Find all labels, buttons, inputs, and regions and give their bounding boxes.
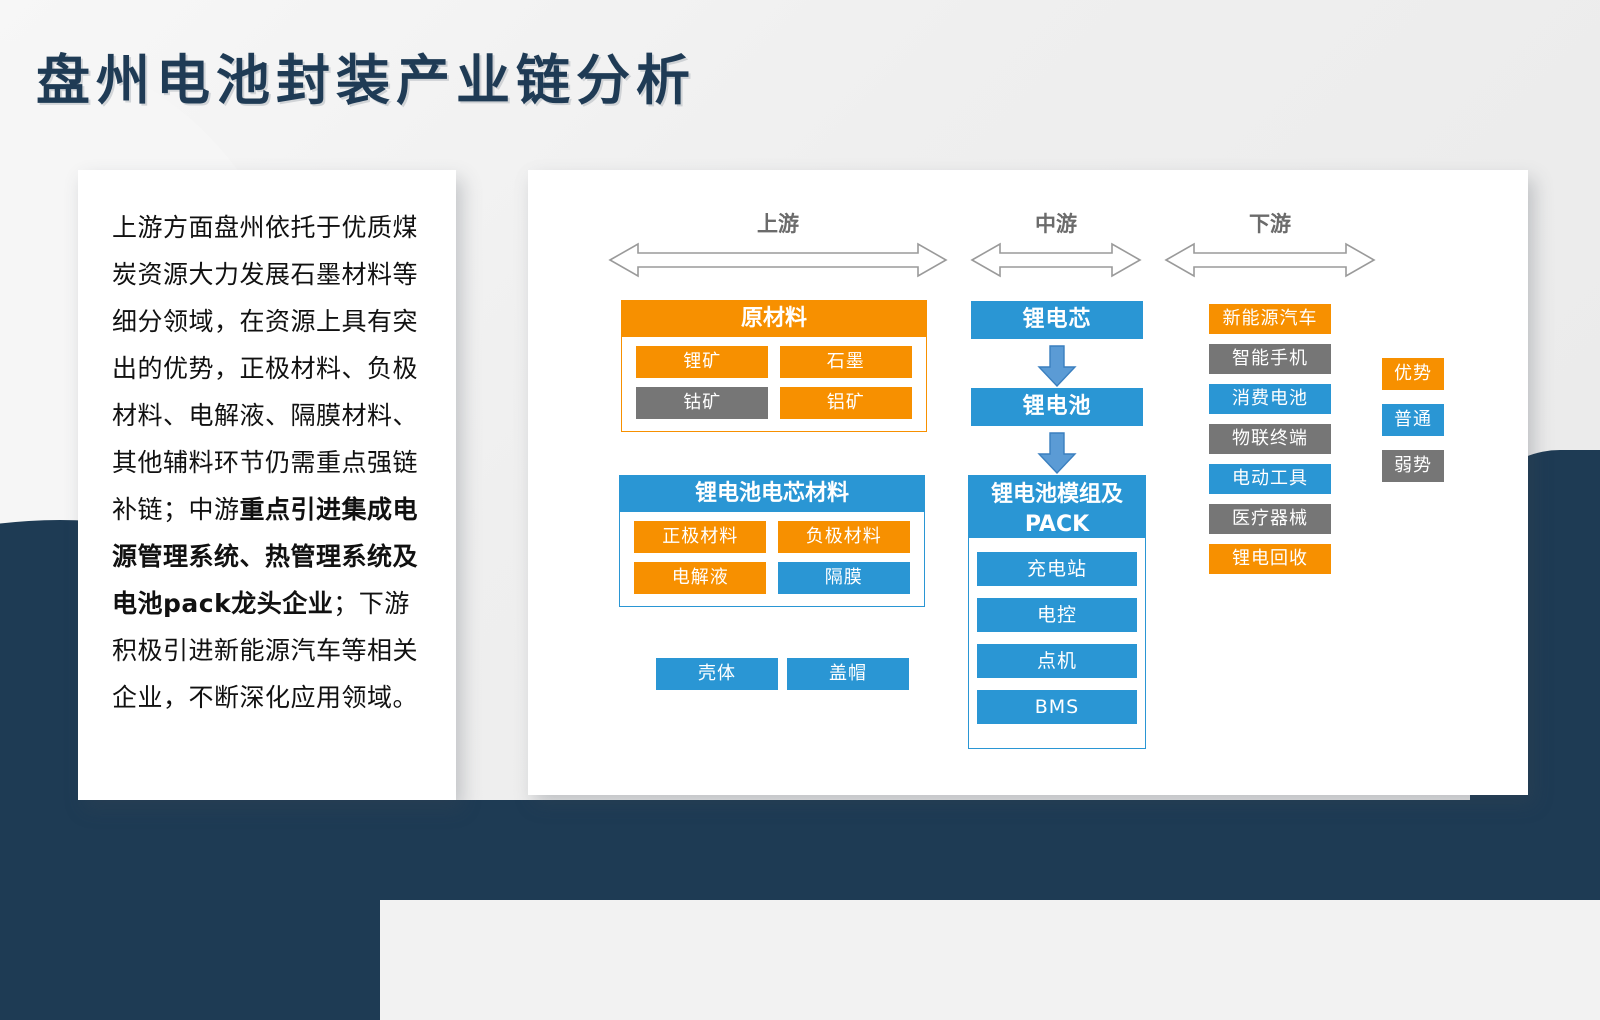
down-arrow-icon-1	[1037, 345, 1077, 387]
legend-item-weak: 弱势	[1382, 450, 1444, 482]
pack-header-line1: 锂电池模组及	[969, 480, 1145, 510]
downstream-list: 新能源汽车 智能手机 消费电池 物联终端 电动工具 医疗器械 锂电回收	[1209, 304, 1331, 584]
chip-cap[interactable]: 盖帽	[787, 658, 909, 690]
group-battery-module-pack-body: 充电站 电控 点机 BMS	[969, 538, 1145, 748]
segment-title-midstream: 中游	[970, 208, 1142, 238]
segment-header-midstream: 中游	[970, 208, 1142, 280]
value-chain-diagram-panel: 上游 中游 下游 原材料 锂矿 石墨 钴矿 铝矿	[528, 170, 1528, 795]
chip-bms[interactable]: BMS	[977, 690, 1137, 724]
legend-item-normal: 普通	[1382, 404, 1444, 436]
legend-item-advantage: 优势	[1382, 358, 1444, 390]
group-raw-materials-body: 锂矿 石墨 钴矿 铝矿	[622, 337, 926, 431]
double-arrow-icon-downstream	[1164, 240, 1376, 280]
chip-motor[interactable]: 点机	[977, 644, 1137, 678]
segment-title-upstream: 上游	[608, 208, 948, 238]
double-arrow-icon-midstream	[970, 240, 1142, 280]
background-navy-bottom-band	[0, 800, 1600, 900]
chip-electrolyte[interactable]: 电解液	[634, 562, 766, 594]
chip-cobalt-ore[interactable]: 钴矿	[636, 387, 768, 419]
chip-smartphone[interactable]: 智能手机	[1209, 344, 1331, 374]
summary-text-panel: 上游方面盘州依托于优质煤炭资源大力发展石墨材料等细分领域，在资源上具有突出的优势…	[78, 170, 456, 800]
group-cell-materials-header: 锂电池电芯材料	[620, 476, 924, 512]
double-arrow-icon-upstream	[608, 240, 948, 280]
chip-graphite[interactable]: 石墨	[780, 346, 912, 378]
pack-header-line2: PACK	[969, 510, 1145, 540]
chip-anode-material[interactable]: 负极材料	[778, 521, 910, 553]
chip-medical-device[interactable]: 医疗器械	[1209, 504, 1331, 534]
segment-title-downstream: 下游	[1164, 208, 1376, 238]
group-raw-materials-header: 原材料	[622, 301, 926, 337]
chip-electric-control[interactable]: 电控	[977, 598, 1137, 632]
group-raw-materials: 原材料 锂矿 石墨 钴矿 铝矿	[621, 300, 927, 432]
group-battery-module-pack: 锂电池模组及 PACK 充电站 电控 点机 BMS	[968, 475, 1146, 749]
group-cell-materials-body: 正极材料 负极材料 电解液 隔膜	[620, 512, 924, 606]
chip-consumer-battery[interactable]: 消费电池	[1209, 384, 1331, 414]
group-cell-materials: 锂电池电芯材料 正极材料 负极材料 电解液 隔膜	[619, 475, 925, 607]
chip-power-tool[interactable]: 电动工具	[1209, 464, 1331, 494]
value-chain-diagram: 上游 中游 下游 原材料 锂矿 石墨 钴矿 铝矿	[528, 170, 1528, 795]
chip-separator[interactable]: 隔膜	[778, 562, 910, 594]
chip-aluminum-ore[interactable]: 铝矿	[780, 387, 912, 419]
segment-header-upstream: 上游	[608, 208, 948, 280]
chip-iot-terminal[interactable]: 物联终端	[1209, 424, 1331, 454]
chip-new-energy-vehicle[interactable]: 新能源汽车	[1209, 304, 1331, 334]
summary-paragraph: 上游方面盘州依托于优质煤炭资源大力发展石墨材料等细分领域，在资源上具有突出的优势…	[78, 170, 456, 721]
chip-battery-recycling[interactable]: 锂电回收	[1209, 544, 1331, 574]
bar-lithium-cell[interactable]: 锂电芯	[971, 301, 1143, 339]
summary-text-part1: 上游方面盘州依托于优质煤炭资源大力发展石墨材料等细分领域，在资源上具有突出的优势…	[112, 213, 418, 524]
chip-lithium-ore[interactable]: 锂矿	[636, 346, 768, 378]
segment-header-downstream: 下游	[1164, 208, 1376, 280]
legend: 优势 普通 弱势	[1382, 358, 1444, 496]
chip-shell[interactable]: 壳体	[656, 658, 778, 690]
bar-lithium-battery[interactable]: 锂电池	[971, 388, 1143, 426]
chip-charging-station[interactable]: 充电站	[977, 552, 1137, 586]
down-arrow-icon-2	[1037, 432, 1077, 474]
page-title: 盘州电池封装产业链分析	[36, 36, 696, 115]
chip-cathode-material[interactable]: 正极材料	[634, 521, 766, 553]
group-battery-module-pack-header: 锂电池模组及 PACK	[969, 476, 1145, 538]
